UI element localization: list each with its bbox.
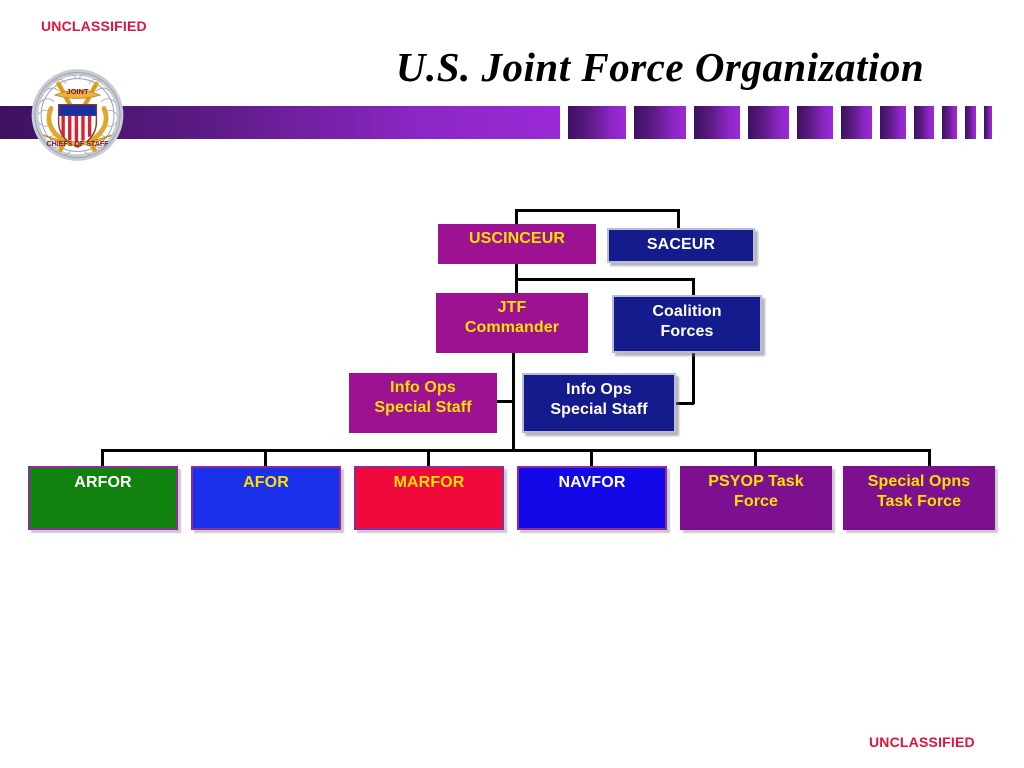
decorative-gradient-rule: [0, 106, 992, 139]
connector-infoops-right-tie: [674, 402, 694, 405]
org-node-label: ARFOR: [30, 473, 176, 493]
org-node-specops[interactable]: Special OpnsTask Force: [843, 466, 995, 530]
org-node-psyop[interactable]: PSYOP TaskForce: [680, 466, 832, 530]
gradient-rule-segment: [984, 106, 992, 139]
svg-text:CHIEFS OF STAFF: CHIEFS OF STAFF: [47, 140, 110, 148]
org-node-infoops-l[interactable]: Info OpsSpecial Staff: [349, 373, 497, 433]
connector-bottom-distribution-bus: [101, 449, 931, 452]
connector-uscinceur-to-saceur-riser-right: [677, 209, 680, 230]
gradient-rule-segment: [841, 106, 872, 139]
org-node-label: MARFOR: [356, 473, 502, 493]
gradient-rule-segment: [694, 106, 740, 139]
org-node-label: CoalitionForces: [614, 302, 760, 342]
classification-marking-bottom: UNCLASSIFIED: [869, 734, 975, 750]
org-node-marfor[interactable]: MARFOR: [354, 466, 504, 530]
page-title: U.S. Joint Force Organization: [330, 43, 990, 91]
slide-canvas: UNCLASSIFIED UNCLASSIFIED U.S. Joint For…: [0, 0, 1024, 768]
org-node-saceur[interactable]: SACEUR: [607, 228, 755, 263]
org-node-label: USCINCEUR: [438, 229, 596, 249]
connector-drop-specops: [928, 449, 931, 467]
org-node-jtf[interactable]: JTFCommander: [436, 293, 588, 353]
connector-coalition-riser: [692, 278, 695, 296]
connector-coalition-down-to-infoops: [692, 352, 695, 404]
joint-chiefs-of-staff-seal-icon: JOINT CHIEFS OF STAFF: [30, 63, 125, 167]
org-node-uscinceur[interactable]: USCINCEUR: [438, 224, 596, 264]
connector-uscinceur-to-saceur-crossbar: [515, 209, 680, 212]
connector-drop-psyop: [754, 449, 757, 467]
gradient-rule-segment: [634, 106, 686, 139]
org-node-label: Info OpsSpecial Staff: [349, 378, 497, 418]
connector-drop-marfor: [427, 449, 430, 467]
org-node-coalition[interactable]: CoalitionForces: [612, 295, 762, 353]
connector-infoops-left-tie: [497, 400, 514, 403]
connector-drop-arfor: [101, 449, 104, 467]
connector-jtf-coalition-crossbar: [515, 278, 695, 281]
org-node-label: AFOR: [193, 473, 339, 493]
org-node-label: SACEUR: [609, 235, 753, 255]
gradient-rule-segment: [568, 106, 626, 139]
org-node-arfor[interactable]: ARFOR: [28, 466, 178, 530]
gradient-rule-segment: [748, 106, 789, 139]
gradient-rule-segment: [880, 106, 906, 139]
org-node-infoops-r[interactable]: Info OpsSpecial Staff: [522, 373, 676, 433]
gradient-rule-segment: [942, 106, 957, 139]
connector-drop-navfor: [590, 449, 593, 467]
gradient-rule-segment: [965, 106, 976, 139]
org-node-label: Special OpnsTask Force: [844, 472, 994, 512]
gradient-rule-segment: [797, 106, 833, 139]
org-node-navfor[interactable]: NAVFOR: [517, 466, 667, 530]
org-node-label: JTFCommander: [436, 298, 588, 338]
svg-text:JOINT: JOINT: [66, 87, 89, 96]
classification-marking-top: UNCLASSIFIED: [41, 18, 147, 34]
gradient-rule-segment: [914, 106, 934, 139]
connector-drop-afor: [264, 449, 267, 467]
org-node-label: Info OpsSpecial Staff: [524, 380, 674, 420]
org-node-label: PSYOP TaskForce: [681, 472, 831, 512]
org-node-label: NAVFOR: [519, 473, 665, 493]
org-node-afor[interactable]: AFOR: [191, 466, 341, 530]
